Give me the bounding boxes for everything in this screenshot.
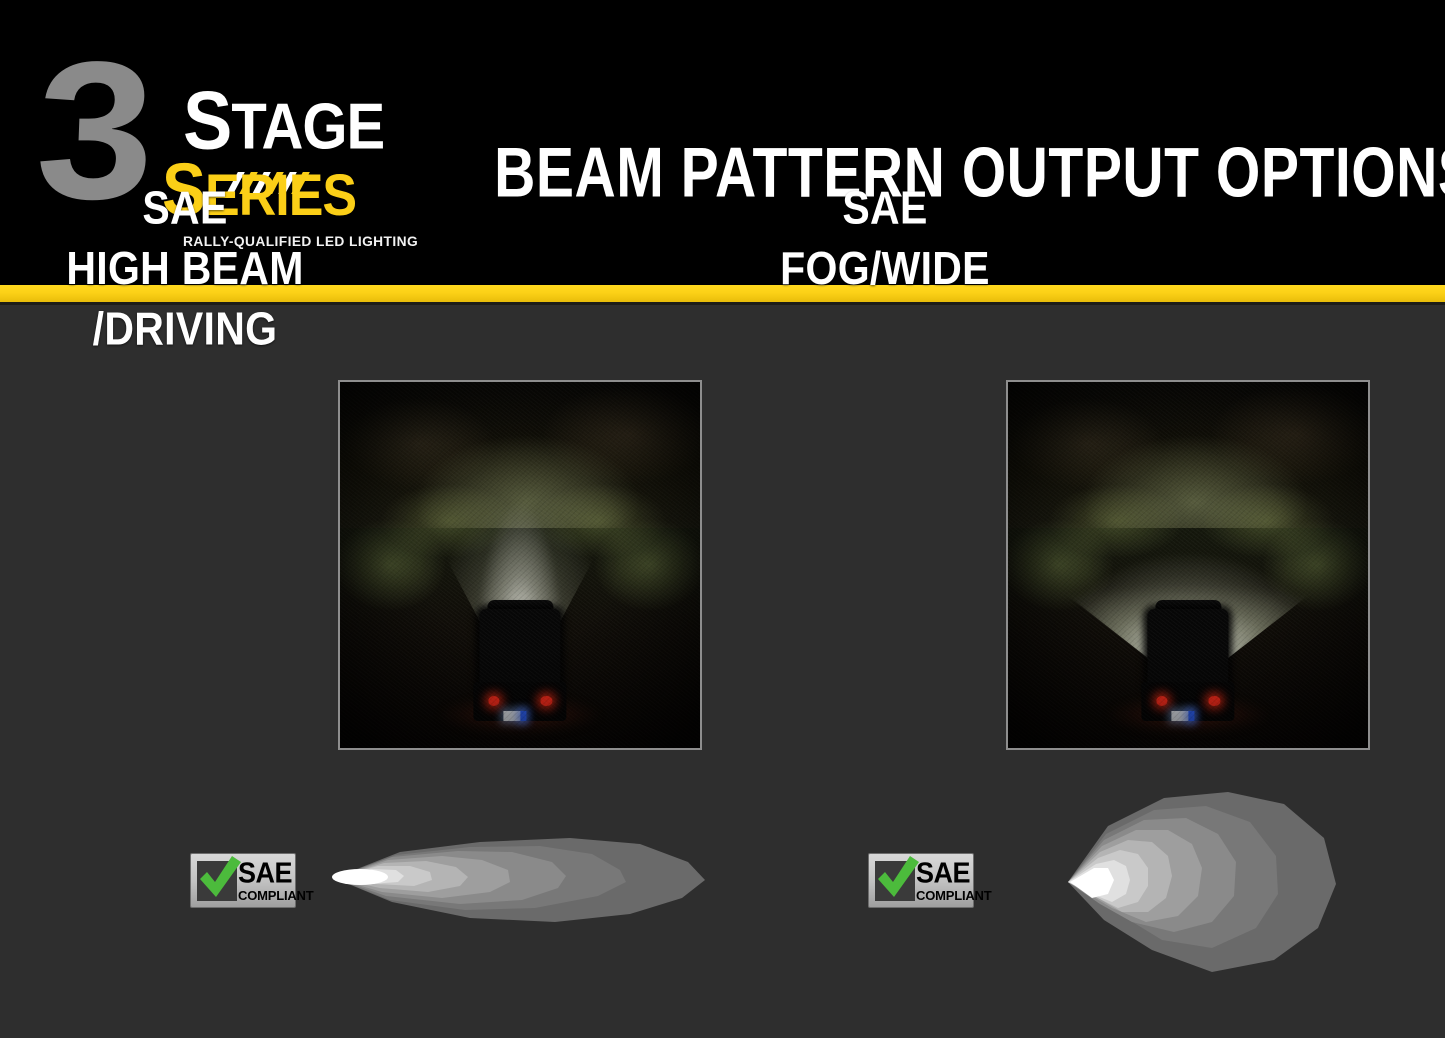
photo-vignette bbox=[340, 382, 700, 748]
sae-badge-subtitle: COMPLIANT bbox=[916, 889, 991, 902]
sae-compliant-badge-right: SAE COMPLIANT bbox=[868, 853, 974, 908]
sae-badge-text: SAE COMPLIANT bbox=[916, 860, 991, 902]
beam-pattern-diagram-narrow bbox=[330, 822, 710, 940]
photo-fog-wide bbox=[1006, 380, 1370, 750]
checkmark-icon bbox=[875, 861, 915, 901]
beam-label-line-1: SAE bbox=[740, 178, 1030, 238]
beam-hotspot bbox=[332, 869, 388, 885]
beam-label-high-beam-driving: SAE HIGH BEAM /DRIVING bbox=[40, 178, 330, 359]
night-trail-photo-narrow bbox=[340, 382, 700, 748]
night-trail-photo-wide bbox=[1008, 382, 1368, 748]
photo-high-beam-driving bbox=[338, 380, 702, 750]
sae-badge-text: SAE COMPLIANT bbox=[238, 860, 313, 902]
sae-badge-title: SAE bbox=[238, 859, 313, 887]
beam-label-line-2: FOG/WIDE bbox=[740, 238, 1030, 298]
photo-vignette bbox=[1008, 382, 1368, 748]
sae-badge-title: SAE bbox=[916, 859, 991, 887]
slide-root: 3 STAGE SERIES RALLY-QUALIFIED LED LIGHT… bbox=[0, 0, 1445, 1038]
beam-label-line-1: SAE bbox=[40, 178, 330, 238]
logo-word-stage: STAGE bbox=[183, 88, 384, 160]
checkmark-icon bbox=[197, 861, 237, 901]
beam-label-line-3: /DRIVING bbox=[40, 299, 330, 359]
sae-compliant-badge-left: SAE COMPLIANT bbox=[190, 853, 296, 908]
beam-label-fog-wide: SAE FOG/WIDE bbox=[740, 178, 1030, 299]
beam-label-line-2: HIGH BEAM bbox=[40, 238, 330, 298]
beam-pattern-diagram-wide bbox=[1060, 782, 1350, 982]
logo-stage-rest: TAGE bbox=[231, 90, 384, 163]
sae-badge-subtitle: COMPLIANT bbox=[238, 889, 313, 902]
